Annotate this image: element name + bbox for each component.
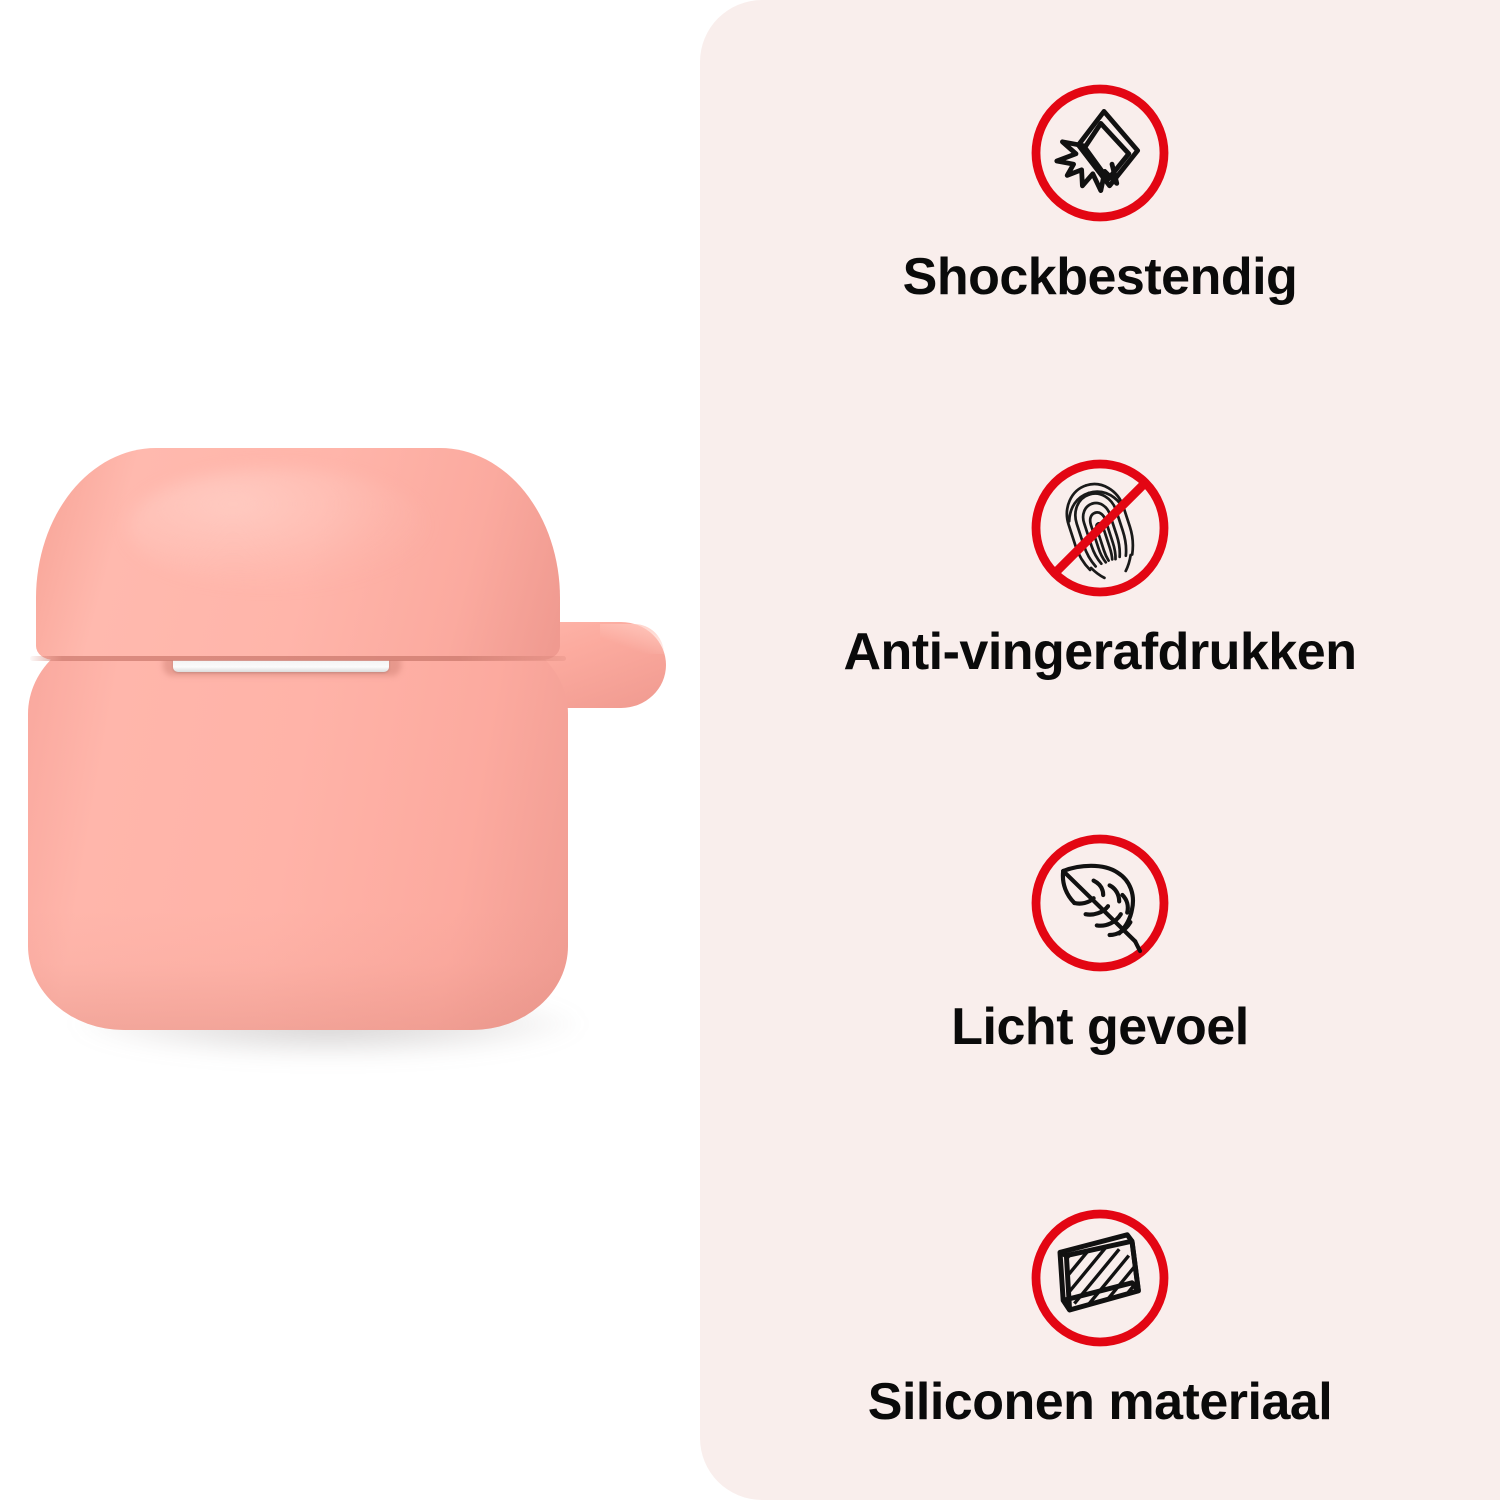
- feature-label-lightweight: Licht gevoel: [951, 1001, 1248, 1053]
- case-body: [28, 630, 568, 1030]
- anti-fingerprint-icon: [1020, 448, 1180, 608]
- feature-item-lightweight: Licht gevoel: [700, 750, 1500, 1125]
- product-image-pane: [0, 0, 700, 1500]
- feature-label-shock-resistant: Shockbestendig: [903, 251, 1298, 303]
- lid-highlight: [128, 468, 428, 588]
- feather-icon: [1020, 823, 1180, 983]
- feature-list: Shockbestendig: [700, 0, 1500, 1500]
- feature-item-anti-fingerprint: Anti-vingerafdrukken: [700, 375, 1500, 750]
- shock-resistant-icon: [1020, 73, 1180, 233]
- case-lid: [36, 448, 560, 660]
- product-feature-banner: Shockbestendig: [0, 0, 1500, 1500]
- feature-panel: Shockbestendig: [700, 0, 1500, 1500]
- feature-item-shock-resistant: Shockbestendig: [700, 0, 1500, 375]
- product-photo: [18, 440, 678, 1060]
- feature-item-silicone-material: Siliconen materiaal: [700, 1125, 1500, 1500]
- silicone-material-icon: [1020, 1198, 1180, 1358]
- feature-label-anti-fingerprint: Anti-vingerafdrukken: [844, 626, 1357, 678]
- lid-seam-line: [30, 656, 566, 661]
- feature-label-silicone-material: Siliconen materiaal: [868, 1376, 1332, 1428]
